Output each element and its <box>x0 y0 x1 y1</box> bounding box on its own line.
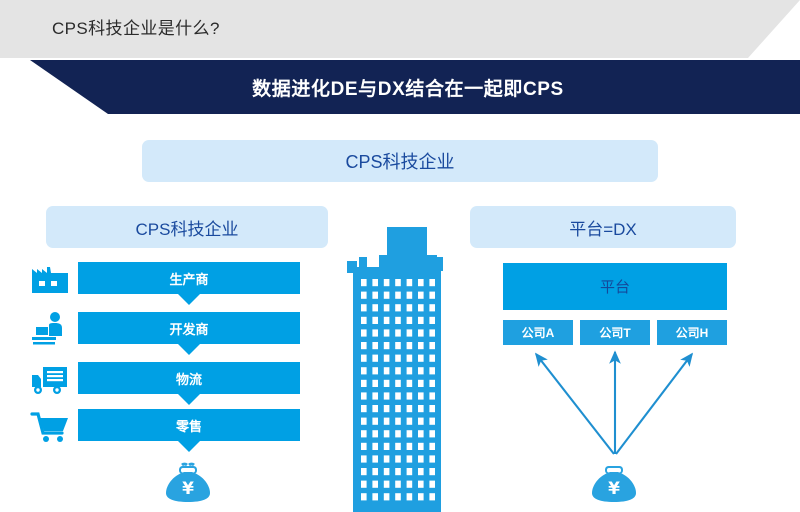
arrow-to-company-a <box>536 354 614 454</box>
developer-icon <box>30 309 70 347</box>
truck-icon <box>30 359 70 397</box>
flow-down-arrow <box>178 441 200 452</box>
main-title-box: CPS科技企业 <box>142 140 658 182</box>
platform-box: 平台 <box>503 263 727 310</box>
flow-step-label: 开发商 <box>78 312 300 344</box>
arrow-to-company-h <box>616 354 692 454</box>
currency-symbol-right: ¥ <box>608 479 620 499</box>
navy-banner: 数据进化DE与DX结合在一起即CPS <box>0 60 800 114</box>
flow-down-arrow <box>178 344 200 355</box>
shopping-cart-icon <box>30 406 70 444</box>
navy-banner-inner: 数据进化DE与DX结合在一起即CPS <box>0 60 800 114</box>
currency-symbol-left: ¥ <box>182 479 194 499</box>
money-purse-icon-right: ¥ <box>586 452 642 508</box>
flow-down-arrow <box>178 294 200 305</box>
right-panel-title-box: 平台=DX <box>470 206 736 248</box>
money-flow-arrows <box>460 330 760 470</box>
factory-icon <box>30 259 70 297</box>
flow-step-label: 生产商 <box>78 262 300 294</box>
slide-root: CPS科技企业是什么? 数据进化DE与DX结合在一起即CPS CPS科技企业 C… <box>0 0 800 512</box>
flow-step-label: 物流 <box>78 362 300 394</box>
banner-title: 数据进化DE与DX结合在一起即CPS <box>252 74 564 101</box>
flow-row: 物流 <box>0 362 320 406</box>
flow-row: 生产商 <box>0 262 320 306</box>
page-title: CPS科技企业是什么? <box>52 14 220 39</box>
left-panel-title-box: CPS科技企业 <box>46 206 328 248</box>
skyscraper-icon <box>335 195 465 512</box>
flow-step-label: 零售 <box>78 409 300 441</box>
flow-down-arrow <box>178 394 200 405</box>
flow-row: 零售 <box>0 409 320 453</box>
money-purse-icon-left: ¥ <box>160 452 216 508</box>
flow-row: 开发商 <box>0 312 320 356</box>
